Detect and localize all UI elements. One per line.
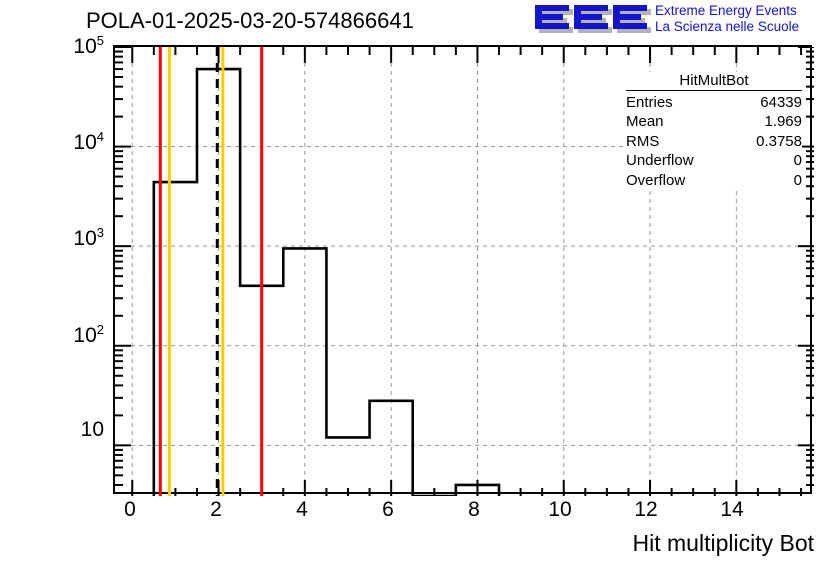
stats-value: 64339 — [760, 94, 802, 111]
page-title: POLA-01-2025-03-20-574866641 — [86, 8, 414, 34]
stats-title: HitMultBot — [626, 72, 802, 91]
stats-row: RMS 0.3758 — [626, 130, 802, 150]
x-axis-title: Hit multiplicity Bot — [633, 530, 814, 557]
x-tick-label-2: 2 — [196, 498, 236, 522]
stats-value: 0 — [794, 172, 802, 189]
y-tick-label-1e2: 102 — [38, 322, 104, 348]
x-tick-label-8: 8 — [454, 498, 494, 522]
stats-row: Entries 64339 — [626, 91, 802, 111]
eee-logo: Extreme Energy Events La Scienza nelle S… — [533, 2, 833, 38]
eee-tagline-1: Extreme Energy Events — [655, 3, 799, 19]
stats-key: Entries — [626, 94, 673, 111]
stats-key: Overflow — [626, 172, 685, 189]
y-tick-label-1e4: 104 — [38, 129, 104, 155]
stats-value: 0 — [794, 152, 802, 169]
y-tick-label-1e5: 105 — [38, 33, 104, 59]
x-tick-label-6: 6 — [368, 498, 408, 522]
x-tick-label-14: 14 — [712, 498, 752, 522]
x-tick-label-12: 12 — [626, 498, 666, 522]
stats-box: HitMultBot Entries 64339 Mean 1.969 RMS … — [626, 72, 802, 189]
stats-value: 0.3758 — [756, 133, 802, 150]
y-tick-label-1e3: 103 — [38, 225, 104, 251]
eee-letters-icon — [533, 2, 651, 36]
stats-key: RMS — [626, 133, 659, 150]
stats-value: 1.969 — [764, 113, 802, 130]
eee-tagline-2: La Scienza nelle Scuole — [655, 19, 799, 35]
eee-logo-text: Extreme Energy Events La Scienza nelle S… — [655, 3, 799, 35]
stats-row: Mean 1.969 — [626, 111, 802, 131]
x-tick-label-4: 4 — [282, 498, 322, 522]
stats-row: Overflow 0 — [626, 169, 802, 189]
x-tick-label-10: 10 — [540, 498, 580, 522]
stats-row: Underflow 0 — [626, 150, 802, 170]
y-tick-label-1e1: 10 — [38, 418, 104, 442]
x-tick-label-0: 0 — [110, 498, 150, 522]
root-canvas: POLA-01-2025-03-20-574866641 — [0, 0, 836, 572]
stats-key: Mean — [626, 113, 664, 130]
stats-key: Underflow — [626, 152, 694, 169]
